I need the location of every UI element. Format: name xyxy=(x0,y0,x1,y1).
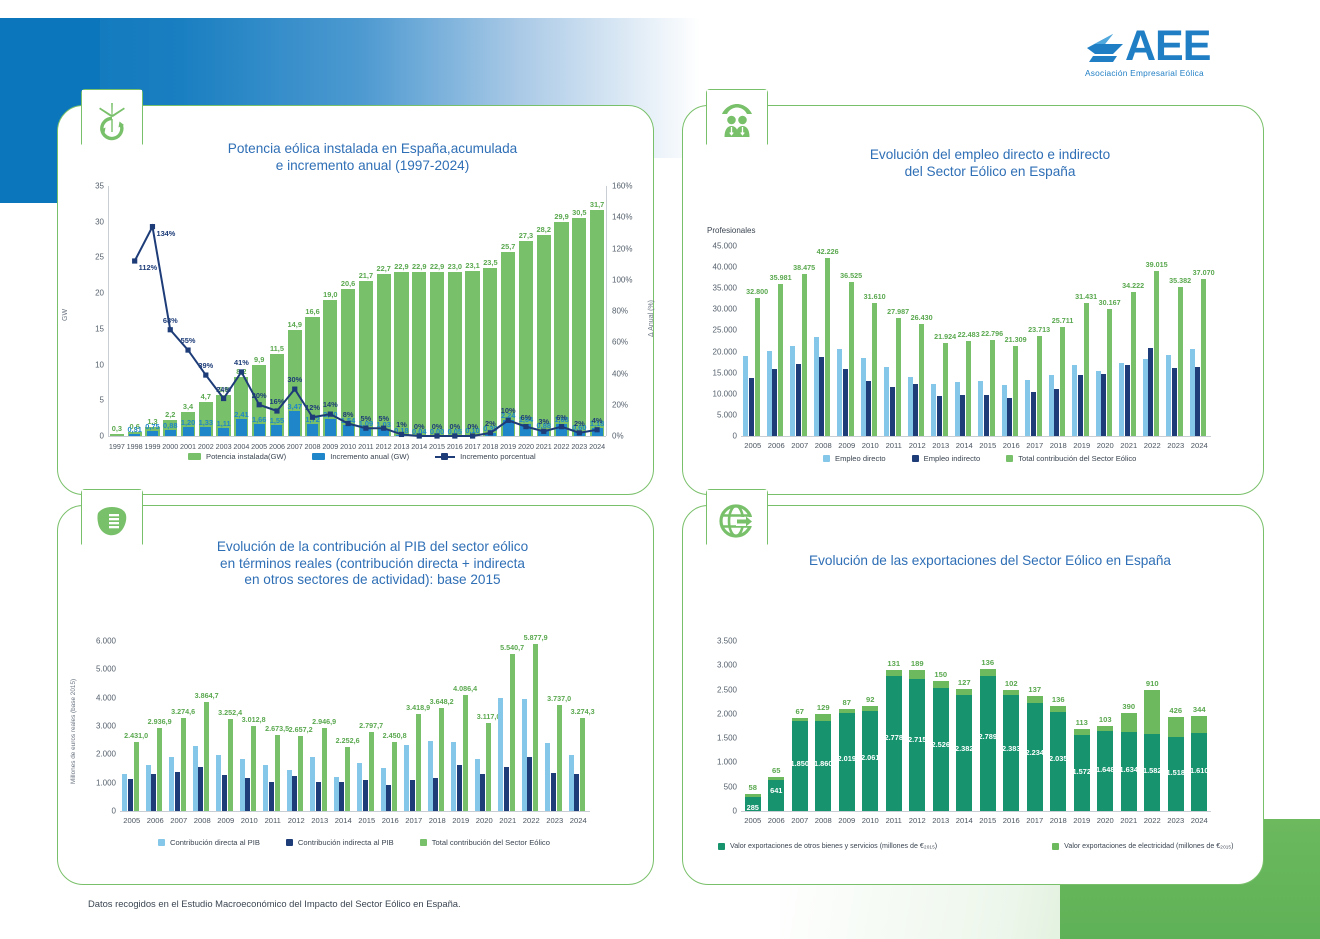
bar-total-sector xyxy=(943,343,948,436)
x-tick-label: 2007 xyxy=(788,816,812,825)
bar-label-pib-total: 3.274,3 xyxy=(565,707,601,716)
bar-export-bienes-servicios xyxy=(980,676,996,811)
legend-label: Empleo indirecto xyxy=(924,454,981,463)
panel-title-empleo: Evolución del empleo directo e indirecto… xyxy=(683,147,1263,180)
bar-empleo-directo xyxy=(1143,359,1148,436)
x-tick-label: 2008 xyxy=(191,816,215,825)
axis-unit-profesionales: Profesionales xyxy=(707,226,755,235)
bar-label-total-empleo: 23.713 xyxy=(1022,325,1056,334)
chart-pib: 01.0002.0003.0004.0005.0006.000Millones … xyxy=(120,641,590,811)
bar-label-export-electricidad: 136 xyxy=(973,658,1003,667)
bar-label-export-bienes: 2.382 xyxy=(948,744,980,753)
line-label-porcentual: 39% xyxy=(191,361,221,370)
bar-export-electricidad xyxy=(933,681,949,688)
x-tick-label: 1997 xyxy=(108,442,126,451)
panel-title-pib: Evolución de la contribución al PIB del … xyxy=(58,539,653,589)
aee-tagline: Asociación Empresarial Eólica xyxy=(1085,68,1248,78)
bar-pib-directa xyxy=(357,763,362,811)
x-tick-label: 2018 xyxy=(426,816,450,825)
bar-total-sector xyxy=(1131,292,1136,436)
x-tick-label: 1999 xyxy=(144,442,162,451)
aee-wing-mark-icon xyxy=(1083,26,1127,66)
bar-pib-directa xyxy=(381,768,386,811)
y2-tick-label: 100% xyxy=(612,275,642,284)
y-tick-label: 30 xyxy=(74,217,104,226)
bar-total-sector xyxy=(896,318,901,436)
x-tick-label: 2019 xyxy=(499,442,517,451)
x-tick-label: 2004 xyxy=(233,442,251,451)
bar-export-electricidad xyxy=(1027,696,1043,703)
bar-empleo-directo xyxy=(884,367,889,436)
x-tick-label: 2017 xyxy=(464,442,482,451)
bar-pib-total xyxy=(510,654,515,811)
bar-total-sector xyxy=(1201,279,1206,436)
line-label-porcentual: 14% xyxy=(315,400,345,409)
bar-pib-directa xyxy=(569,755,574,811)
bar-empleo-indirecto xyxy=(913,384,918,436)
bar-pib-total xyxy=(557,705,562,811)
legend-label: Total contribución del Sector Eólico xyxy=(1018,454,1136,463)
axis-line-bottom xyxy=(108,436,606,437)
bar-label-export-electricidad: 103 xyxy=(1090,715,1120,724)
y2-tick-label: 40% xyxy=(612,369,642,378)
x-tick-label: 2014 xyxy=(410,442,428,451)
chart-exportaciones: 05001.0001.5002.0002.5003.0003.500285582… xyxy=(741,641,1211,811)
bar-pib-total xyxy=(134,742,139,811)
aee-wordmark: AEE xyxy=(1125,27,1210,65)
bar-empleo-directo xyxy=(1190,349,1195,436)
legend-label: Valor exportaciones de electricidad (mil… xyxy=(1064,842,1233,850)
wind-turbine-recycle-icon xyxy=(92,101,132,143)
legend-label: Contribución indirecta al PIB xyxy=(298,838,394,847)
x-tick-label: 2023 xyxy=(570,442,588,451)
bar-label-total-empleo: 37.070 xyxy=(1187,268,1221,277)
bar-pib-total xyxy=(439,708,444,811)
legend-item: Total contribución del Sector Eólico xyxy=(1006,454,1136,463)
bar-total-sector xyxy=(802,274,807,436)
bar-pib-total xyxy=(416,714,421,811)
legend-color-swatch xyxy=(420,839,427,846)
y2-tick-label: 80% xyxy=(612,307,642,316)
x-tick-label: 2016 xyxy=(379,816,403,825)
bar-pib-directa xyxy=(216,755,221,811)
bar-empleo-directo xyxy=(1096,371,1101,436)
legend-item: Contribución indirecta al PIB xyxy=(286,838,394,847)
bar-label-total-empleo: 38.475 xyxy=(787,263,821,272)
legend-item: Incremento anual (GW) xyxy=(312,452,409,461)
aee-logo: AEE Asociación Empresarial Eólica xyxy=(1083,26,1248,88)
x-tick-label: 2003 xyxy=(215,442,233,451)
legend-label: Valor exportaciones de otros bienes y se… xyxy=(730,842,937,850)
bar-export-bienes-servicios xyxy=(768,780,784,811)
bar-empleo-directo xyxy=(767,351,772,436)
legend-potencia: Potencia instalada(GW)Incremento anual (… xyxy=(188,452,562,461)
bar-total-sector xyxy=(919,324,924,436)
bar-label-total-empleo: 21.309 xyxy=(999,335,1033,344)
bar-label-export-electricidad: 344 xyxy=(1184,705,1214,714)
bar-label-export-bienes: 641 xyxy=(760,786,792,795)
x-tick-label: 2013 xyxy=(929,816,953,825)
bar-label-pib-total: 2.797,7 xyxy=(353,721,389,730)
x-tick-label: 2008 xyxy=(304,442,322,451)
x-tick-label: 2005 xyxy=(250,442,268,451)
bar-label-pib-total: 2.252,6 xyxy=(330,736,366,745)
y-tick-label: 5.000 xyxy=(84,665,116,674)
bar-total-sector xyxy=(1154,271,1159,436)
y-tick-label: 3.000 xyxy=(707,661,737,670)
bar-pib-indirecta xyxy=(551,773,556,811)
bar-pib-indirecta xyxy=(504,767,509,811)
x-tick-label: 2006 xyxy=(268,442,286,451)
bar-total-sector xyxy=(755,298,760,436)
legend-item: Incremento porcentual xyxy=(435,452,536,461)
bar-pib-indirecta xyxy=(222,775,227,811)
x-tick-label: 2009 xyxy=(835,816,859,825)
y-tick-label: 10.000 xyxy=(703,389,737,398)
legend-item: Valor exportaciones de electricidad (mil… xyxy=(1052,842,1233,850)
y-tick-label: 45.000 xyxy=(703,242,737,251)
y-tick-label: 15.000 xyxy=(703,368,737,377)
y-tick-label: 20 xyxy=(74,289,104,298)
bar-export-electricidad xyxy=(792,718,808,721)
legend-label: Incremento porcentual xyxy=(460,452,536,461)
x-tick-label: 2006 xyxy=(144,816,168,825)
bar-pib-total xyxy=(275,735,280,811)
bar-label-pib-total: 2.936,9 xyxy=(142,717,178,726)
bar-empleo-indirecto xyxy=(1195,367,1200,436)
bar-label-total-empleo: 36.525 xyxy=(834,271,868,280)
bar-empleo-indirecto xyxy=(1148,348,1153,436)
bar-label-export-bienes: 2.035 xyxy=(1042,754,1074,763)
bar-empleo-directo xyxy=(1166,355,1171,436)
x-tick-label: 2013 xyxy=(393,442,411,451)
y-axis-title-gw: GW xyxy=(62,309,69,321)
line-label-porcentual: 41% xyxy=(226,358,256,367)
x-tick-label: 2008 xyxy=(812,816,836,825)
x-tick-label: 2018 xyxy=(1047,816,1071,825)
bar-pib-indirecta xyxy=(480,774,485,811)
x-tick-label: 2023 xyxy=(1164,816,1188,825)
panel-title-potencia: Potencia eólica instalada en España,acum… xyxy=(58,141,653,174)
x-tick-label: 2010 xyxy=(859,816,883,825)
bar-pib-directa xyxy=(310,757,315,811)
y-tick-label: 3.500 xyxy=(707,637,737,646)
bar-pib-directa xyxy=(240,759,245,811)
bar-pib-directa xyxy=(169,757,174,811)
x-tick-label: 2019 xyxy=(449,816,473,825)
bar-pib-directa xyxy=(287,770,292,811)
x-tick-label: 2024 xyxy=(588,442,606,451)
x-tick-label: 2017 xyxy=(1023,816,1047,825)
y-tick-label: 2.000 xyxy=(84,750,116,759)
x-tick-label: 2008 xyxy=(812,441,836,450)
bar-export-electricidad xyxy=(1191,716,1207,733)
x-tick-label: 2000 xyxy=(161,442,179,451)
bar-label-export-electricidad: 127 xyxy=(949,678,979,687)
bar-empleo-directo xyxy=(837,349,842,436)
y-tick-label: 500 xyxy=(707,782,737,791)
legend-color-swatch xyxy=(158,839,165,846)
bar-label-total-empleo: 31.610 xyxy=(858,292,892,301)
bar-pib-indirecta xyxy=(527,757,532,811)
legend-color-swatch xyxy=(823,455,830,462)
x-tick-label: 2021 xyxy=(496,816,520,825)
bar-export-electricidad xyxy=(980,669,996,676)
bar-pib-total xyxy=(580,718,585,811)
x-tick-label: 2011 xyxy=(261,816,285,825)
bar-pib-directa xyxy=(334,777,339,811)
x-tick-label: 2009 xyxy=(321,442,339,451)
x-tick-label: 2011 xyxy=(882,441,906,450)
bar-empleo-indirecto xyxy=(843,369,848,436)
bar-label-total-empleo: 39.015 xyxy=(1140,260,1174,269)
bar-pib-directa xyxy=(263,765,268,811)
x-tick-label: 2016 xyxy=(446,442,464,451)
x-tick-label: 2019 xyxy=(1070,441,1094,450)
x-tick-label: 2021 xyxy=(1117,441,1141,450)
x-tick-label: 2015 xyxy=(355,816,379,825)
x-tick-label: 2022 xyxy=(553,442,571,451)
y-tick-label: 25 xyxy=(74,253,104,262)
x-tick-label: 2018 xyxy=(482,442,500,451)
y-tick-label: 10 xyxy=(74,360,104,369)
bar-empleo-directo xyxy=(1072,365,1077,436)
y-tick-label: 25.000 xyxy=(703,326,737,335)
bar-label-export-electricidad: 137 xyxy=(1020,685,1050,694)
x-tick-label: 1998 xyxy=(126,442,144,451)
y2-tick-label: 140% xyxy=(612,213,642,222)
x-tick-label: 2024 xyxy=(1188,816,1212,825)
bar-empleo-indirecto xyxy=(890,387,895,436)
bar-pib-directa xyxy=(428,741,433,811)
x-tick-label: 2009 xyxy=(835,441,859,450)
x-tick-label: 2014 xyxy=(332,816,356,825)
bar-pib-indirecta xyxy=(363,780,368,811)
x-tick-label: 2011 xyxy=(882,816,906,825)
bar-pib-total xyxy=(533,644,538,811)
x-tick-label: 2006 xyxy=(765,816,789,825)
x-tick-label: 2019 xyxy=(1070,816,1094,825)
bar-empleo-indirecto xyxy=(819,357,824,436)
line-label-porcentual: 30% xyxy=(280,375,310,384)
bar-empleo-directo xyxy=(814,337,819,436)
legend-item: Valor exportaciones de otros bienes y se… xyxy=(718,842,937,850)
legend-exportaciones: Valor exportaciones de otros bienes y se… xyxy=(718,842,1260,850)
x-tick-label: 2015 xyxy=(428,442,446,451)
bar-empleo-indirecto xyxy=(1054,389,1059,437)
x-tick-label: 2022 xyxy=(1141,816,1165,825)
legend-pib: Contribución directa al PIBContribución … xyxy=(158,838,576,847)
bar-total-sector xyxy=(825,258,830,436)
bar-pib-directa xyxy=(193,746,198,811)
line-incremento-porcentual xyxy=(108,186,606,436)
y-tick-label: 40.000 xyxy=(703,263,737,272)
bar-export-electricidad xyxy=(1144,690,1160,734)
bar-total-sector xyxy=(1013,346,1018,436)
legend-empleo: Empleo directoEmpleo indirectoTotal cont… xyxy=(823,454,1162,463)
y-tick-label: 1.000 xyxy=(84,778,116,787)
legend-item: Total contribución del Sector Eólico xyxy=(420,838,550,847)
bar-pib-indirecta xyxy=(339,782,344,811)
y-tick-label: 1.500 xyxy=(707,734,737,743)
x-tick-label: 2013 xyxy=(929,441,953,450)
bar-empleo-indirecto xyxy=(1172,368,1177,436)
x-tick-label: 2021 xyxy=(535,442,553,451)
globe-export-icon xyxy=(717,501,757,543)
bar-label-pib-total: 2.450,8 xyxy=(377,731,413,740)
x-tick-label: 2012 xyxy=(285,816,309,825)
line-label-porcentual: 55% xyxy=(173,336,203,345)
bar-pib-indirecta xyxy=(433,778,438,811)
bar-label-pib-total: 2.657,2 xyxy=(283,725,319,734)
x-tick-label: 2005 xyxy=(120,816,144,825)
bar-pib-total xyxy=(463,695,468,811)
bar-total-sector xyxy=(1178,287,1183,436)
bar-pib-indirecta xyxy=(198,767,203,811)
bar-empleo-directo xyxy=(908,377,913,436)
bar-export-electricidad xyxy=(815,714,831,720)
axis-line-bottom xyxy=(741,436,1211,437)
bar-export-electricidad xyxy=(909,670,925,679)
legend-color-swatch xyxy=(912,455,919,462)
bar-label-export-bienes: 1.610 xyxy=(1183,766,1215,775)
x-tick-label: 2010 xyxy=(339,442,357,451)
x-tick-label: 2015 xyxy=(976,816,1000,825)
x-tick-label: 2020 xyxy=(1094,816,1118,825)
bar-total-sector xyxy=(778,284,783,436)
bar-export-electricidad xyxy=(768,777,784,780)
bar-total-sector xyxy=(1037,336,1042,436)
bar-export-electricidad xyxy=(1050,706,1066,713)
x-tick-label: 2007 xyxy=(286,442,304,451)
bar-total-sector xyxy=(872,303,877,436)
y-tick-label: 2.000 xyxy=(707,709,737,718)
bar-label-export-electricidad: 910 xyxy=(1137,679,1167,688)
line-label-porcentual: 24% xyxy=(209,385,239,394)
bar-total-sector xyxy=(849,282,854,436)
bar-total-sector xyxy=(1107,309,1112,436)
spain-map-icon xyxy=(92,501,132,543)
bar-pib-indirecta xyxy=(386,785,391,811)
y-tick-label: 0 xyxy=(703,432,737,441)
panel-exportaciones: Evolución de las exportaciones del Secto… xyxy=(682,505,1264,885)
bar-export-bienes-servicios xyxy=(886,676,902,811)
people-employment-icon xyxy=(717,101,757,143)
bar-pib-total xyxy=(392,742,397,811)
y-tick-label: 5.000 xyxy=(703,410,737,419)
bar-total-sector xyxy=(1084,303,1089,436)
x-tick-label: 2023 xyxy=(1164,441,1188,450)
bar-pib-directa xyxy=(404,745,409,811)
x-tick-label: 2014 xyxy=(953,816,977,825)
bar-pib-directa xyxy=(498,698,503,811)
x-tick-label: 2020 xyxy=(1094,441,1118,450)
x-tick-label: 2014 xyxy=(953,441,977,450)
bar-export-electricidad xyxy=(1003,690,1019,695)
y-tick-label: 0 xyxy=(74,432,104,441)
x-tick-label: 2007 xyxy=(167,816,191,825)
x-tick-label: 2013 xyxy=(308,816,332,825)
legend-color-swatch xyxy=(312,453,325,460)
bar-label-export-electricidad: 189 xyxy=(902,659,932,668)
bar-label-pib-total: 5.877,9 xyxy=(518,633,554,642)
bar-pib-total xyxy=(157,728,162,811)
bar-empleo-indirecto xyxy=(1078,375,1083,436)
bar-label-total-empleo: 42.226 xyxy=(811,247,845,256)
y-tick-label: 15 xyxy=(74,324,104,333)
x-tick-label: 2012 xyxy=(375,442,393,451)
bar-empleo-directo xyxy=(955,382,960,436)
bar-label-export-bienes: 2.061 xyxy=(854,753,886,762)
bar-export-electricidad xyxy=(1097,726,1113,731)
bar-label-total-empleo: 26.430 xyxy=(905,313,939,322)
legend-line-swatch xyxy=(435,453,455,461)
bar-label-export-electricidad: 92 xyxy=(855,695,885,704)
bar-export-bienes-servicios xyxy=(1003,695,1019,811)
bar-pib-indirecta xyxy=(316,782,321,811)
legend-color-swatch xyxy=(718,843,725,850)
bar-total-sector xyxy=(966,341,971,436)
bar-label-export-bienes: 2.789 xyxy=(972,732,1004,741)
x-tick-label: 2015 xyxy=(976,441,1000,450)
bar-export-electricidad xyxy=(1121,713,1137,732)
x-tick-label: 2020 xyxy=(517,442,535,451)
y2-tick-label: 60% xyxy=(612,338,642,347)
bar-export-bienes-servicios xyxy=(956,695,972,811)
bar-pib-directa xyxy=(475,759,480,811)
panel-empleo: Evolución del empleo directo e indirecto… xyxy=(682,105,1264,495)
x-tick-label: 2018 xyxy=(1047,441,1071,450)
legend-item: Potencia instalada(GW) xyxy=(188,452,286,461)
x-tick-label: 2012 xyxy=(906,441,930,450)
bar-label-export-bienes: 285 xyxy=(737,803,769,812)
bar-pib-total xyxy=(345,747,350,811)
line-label-porcentual: 2% xyxy=(475,419,505,428)
panel-title-exportaciones: Evolución de las exportaciones del Secto… xyxy=(683,553,1263,570)
bar-empleo-directo xyxy=(743,356,748,436)
y-tick-label: 3.000 xyxy=(84,722,116,731)
x-tick-label: 2021 xyxy=(1117,816,1141,825)
legend-label: Contribución directa al PIB xyxy=(170,838,260,847)
x-tick-label: 2016 xyxy=(1000,816,1024,825)
bar-label-pib-total: 3.274,6 xyxy=(165,707,201,716)
chart-potencia-eolica: 05101520253035GW0%20%40%60%80%100%120%14… xyxy=(108,186,606,436)
y-tick-label: 0 xyxy=(707,807,737,816)
bar-label-export-electricidad: 136 xyxy=(1043,695,1073,704)
bar-empleo-indirecto xyxy=(1125,365,1130,436)
legend-label: Empleo directo xyxy=(835,454,886,463)
bar-empleo-indirecto xyxy=(984,395,989,436)
x-tick-label: 2020 xyxy=(473,816,497,825)
x-tick-label: 2016 xyxy=(1000,441,1024,450)
x-tick-label: 2001 xyxy=(179,442,197,451)
x-tick-label: 2024 xyxy=(1188,441,1212,450)
bar-export-electricidad xyxy=(1074,729,1090,734)
x-tick-label: 2017 xyxy=(1023,441,1047,450)
y-tick-label: 35.000 xyxy=(703,284,737,293)
axis-line-bottom xyxy=(741,811,1211,812)
bar-label-pib-total: 2.946,9 xyxy=(306,717,342,726)
bar-pib-indirecta xyxy=(410,780,415,811)
bar-empleo-indirecto xyxy=(960,395,965,436)
bar-pib-indirecta xyxy=(128,779,133,811)
x-tick-label: 2022 xyxy=(520,816,544,825)
bar-pib-total xyxy=(486,723,491,811)
bar-export-electricidad xyxy=(886,670,902,676)
y2-tick-label: 120% xyxy=(612,244,642,253)
line-label-porcentual: 16% xyxy=(262,397,292,406)
panel-pib: Evolución de la contribución al PIB del … xyxy=(57,505,654,885)
